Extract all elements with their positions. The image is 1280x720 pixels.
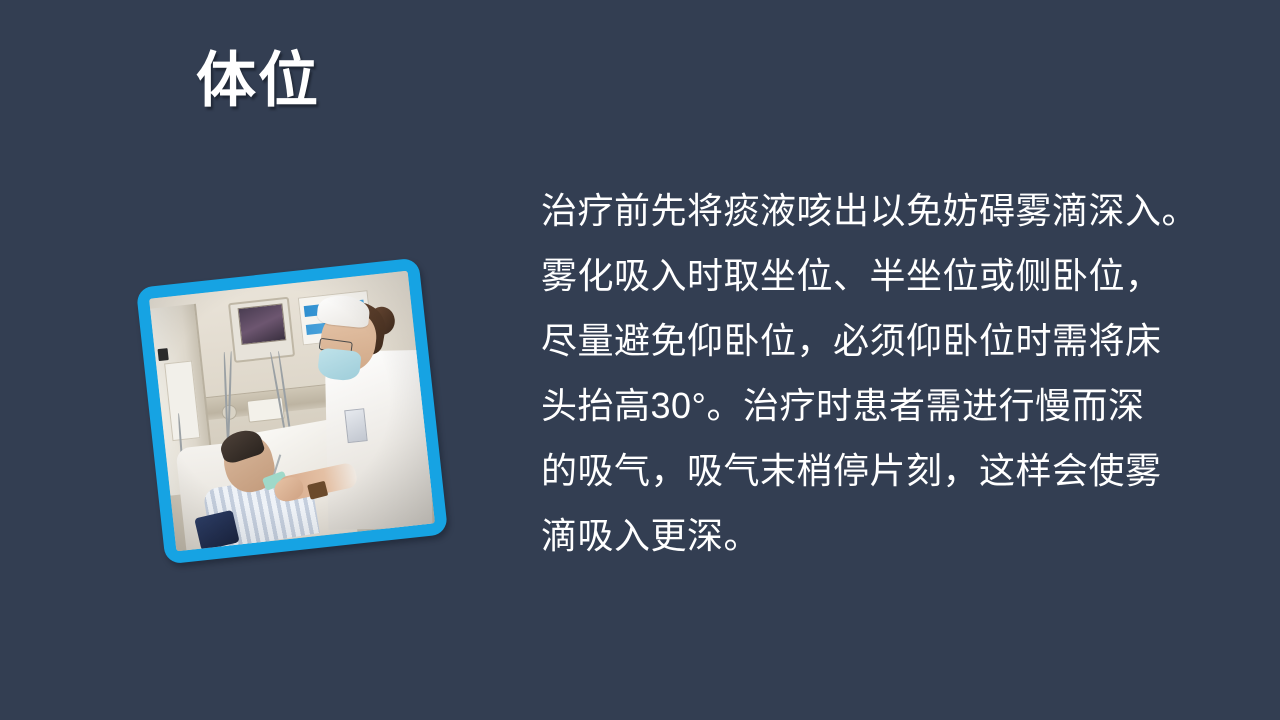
body-line: 尽量避免仰卧位，必须仰卧位时需将床 [541, 308, 1213, 373]
photo-vignette [149, 271, 435, 552]
body-line: 滴吸入更深。 [541, 503, 1213, 568]
body-paragraph: 治疗前先将痰液咳出以免妨碍雾滴深入。 雾化吸入时取坐位、半坐位或侧卧位， 尽量避… [541, 178, 1213, 568]
clinical-photo [149, 271, 435, 552]
page-title: 体位 [196, 46, 320, 115]
body-line: 头抬高30°。治疗时患者需进行慢而深 [541, 373, 1213, 438]
photo-frame [136, 257, 448, 564]
body-line: 的吸气，吸气末梢停片刻，这样会使雾 [541, 438, 1213, 503]
slide-canvas: 体位 [0, 0, 1280, 720]
body-line: 治疗前先将痰液咳出以免妨碍雾滴深入。 [541, 178, 1213, 243]
body-line: 雾化吸入时取坐位、半坐位或侧卧位， [541, 243, 1213, 308]
